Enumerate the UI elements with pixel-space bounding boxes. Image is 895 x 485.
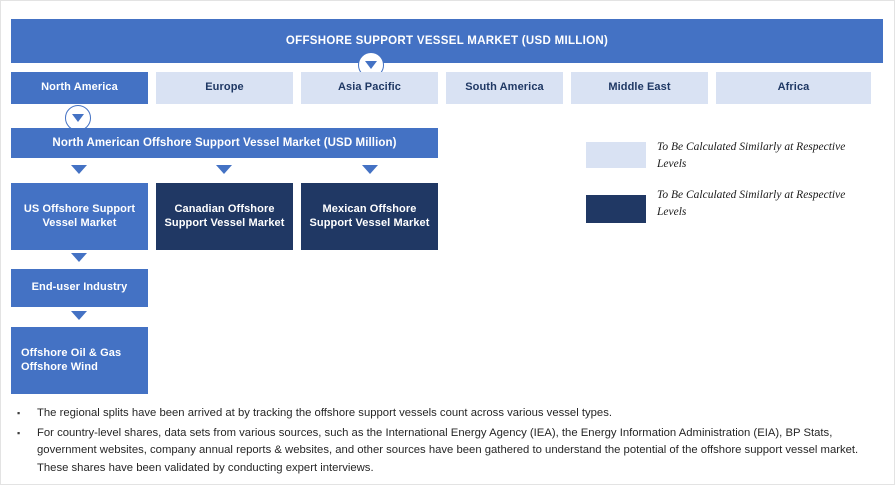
region-tab-south-america[interactable]: South America	[446, 72, 563, 104]
down-arrow-icon-canada	[216, 165, 232, 174]
segment-box-offshore[interactable]: Offshore Oil & GasOffshore Wind	[11, 327, 148, 394]
note-item: ▪ For country-level shares, data sets fr…	[15, 425, 881, 478]
bullet-icon: ▪	[15, 425, 37, 442]
segment-box-label: Offshore Oil & GasOffshore Wind	[21, 347, 121, 375]
end-user-industry-box[interactable]: End-user Industry	[11, 269, 148, 307]
market-header-bar: OFFSHORE SUPPORT VESSEL MARKET (USD MILL…	[11, 19, 883, 63]
region-tab-africa[interactable]: Africa	[716, 72, 871, 104]
down-arrow-icon-enduser	[71, 253, 87, 262]
region-tab-north-america[interactable]: North America	[11, 72, 148, 104]
legend-label-light: To Be Calculated Similarly at Respective…	[657, 139, 872, 172]
country-box-us[interactable]: US Offshore Support Vessel Market	[11, 183, 148, 250]
note-text: For country-level shares, data sets from…	[37, 425, 881, 478]
note-item: ▪ The regional splits have been arrived …	[15, 405, 881, 423]
down-arrow-icon-us	[71, 165, 87, 174]
country-box-mexico[interactable]: Mexican Offshore Support Vessel Market	[301, 183, 438, 250]
triangle-glyph	[72, 114, 84, 122]
down-arrow-icon-mexico	[362, 165, 378, 174]
diagram-canvas: OFFSHORE SUPPORT VESSEL MARKET (USD MILL…	[0, 0, 895, 485]
legend-swatch-light	[586, 142, 646, 168]
down-arrow-icon-segment	[71, 311, 87, 320]
bullet-icon: ▪	[15, 405, 37, 422]
region-tab-middle-east[interactable]: Middle East	[571, 72, 708, 104]
region-tab-asia-pacific[interactable]: Asia Pacific	[301, 72, 438, 104]
triangle-glyph	[365, 61, 377, 69]
legend-swatch-dark	[586, 195, 646, 223]
region-tab-europe[interactable]: Europe	[156, 72, 293, 104]
north-american-market-bar: North American Offshore Support Vessel M…	[11, 128, 438, 158]
country-box-canada[interactable]: Canadian Offshore Support Vessel Market	[156, 183, 293, 250]
note-text: The regional splits have been arrived at…	[37, 405, 881, 423]
methodology-notes: ▪ The regional splits have been arrived …	[15, 405, 881, 479]
legend-label-dark: To Be Calculated Similarly at Respective…	[657, 187, 872, 220]
